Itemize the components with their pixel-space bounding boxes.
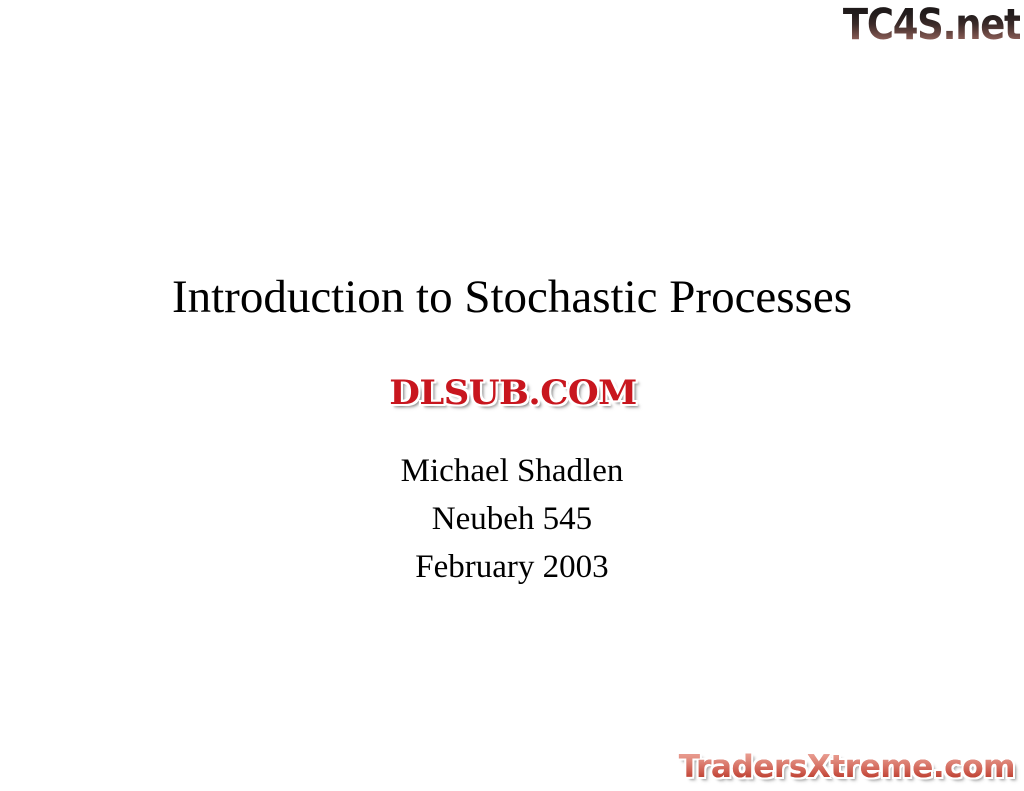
tradersxtreme-watermark: TradersXtreme.com TradersXtreme.com <box>679 750 1015 784</box>
subtitle-date: February 2003 <box>0 543 1024 591</box>
title-block: Introduction to Stochastic Processes <box>0 266 1024 328</box>
subtitle-author: Michael Shadlen <box>0 447 1024 495</box>
dlsub-watermark: DLSUB.COM <box>370 374 656 412</box>
tc4s-logo-watermark: TC4S.net <box>842 2 1020 48</box>
tradersxtreme-watermark-label: TradersXtreme.com <box>679 749 1015 785</box>
dlsub-watermark-label: DLSUB.COM <box>389 376 637 410</box>
subtitle-course: Neubeh 545 <box>0 495 1024 543</box>
page-title: Introduction to Stochastic Processes <box>0 266 1024 328</box>
presentation-slide: TC4S.net Introduction to Stochastic Proc… <box>0 0 1024 791</box>
subtitle-block: Michael Shadlen Neubeh 545 February 2003 <box>0 447 1024 591</box>
